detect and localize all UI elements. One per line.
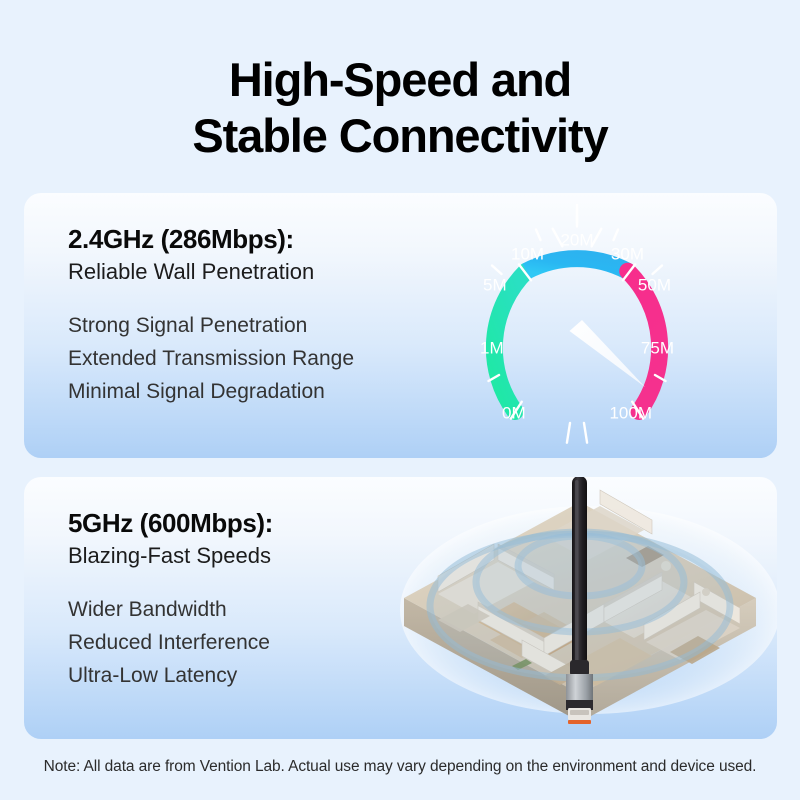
card-2-4ghz-text-block: 2.4GHz (286Mbps): Reliable Wall Penetrat… xyxy=(68,223,418,408)
card-5ghz-heading: 5GHz (600Mbps): xyxy=(68,507,418,539)
gauge-needle xyxy=(570,320,646,387)
card-2-4ghz-feature-list: Strong Signal Penetration Extended Trans… xyxy=(68,309,418,408)
footer-note: Note: All data are from Vention Lab. Act… xyxy=(0,758,800,776)
list-item: Strong Signal Penetration xyxy=(68,309,418,342)
card-5ghz-feature-list: Wider Bandwidth Reduced Interference Ult… xyxy=(68,593,418,692)
list-item: Extended Transmission Range xyxy=(68,342,418,375)
speed-gauge-svg: 0M 1M 5M 10M 20M 30M 50M 75M 100M xyxy=(432,201,732,451)
list-item: Ultra-Low Latency xyxy=(68,659,418,692)
gauge-label-30m: 30M xyxy=(611,244,644,263)
page-title: High-Speed and Stable Connectivity xyxy=(0,52,800,164)
antenna-rod xyxy=(572,477,587,666)
tick-50m xyxy=(653,266,663,275)
antenna-hinge xyxy=(570,660,589,676)
list-item: Minimal Signal Degradation xyxy=(68,375,418,408)
card-5ghz: 5GHz (600Mbps): Blazing-Fast Speeds Wide… xyxy=(24,477,777,739)
infographic-page: High-Speed and Stable Connectivity 2.4GH… xyxy=(0,0,800,800)
speed-gauge: 0M 1M 5M 10M 20M 30M 50M 75M 100M xyxy=(432,201,732,451)
gauge-label-100m: 100M xyxy=(609,403,652,422)
gauge-label-0m: 0M xyxy=(502,403,526,422)
gauge-label-75m: 75M xyxy=(641,338,674,357)
list-item: Reduced Interference xyxy=(68,626,418,659)
gauge-label-20m: 20M xyxy=(560,230,593,249)
page-title-line-2: Stable Connectivity xyxy=(0,108,800,164)
gauge-label-10m: 10M xyxy=(511,244,544,263)
tick-30m xyxy=(614,230,619,241)
page-title-line-1: High-Speed and xyxy=(0,52,800,108)
gauge-label-5m: 5M xyxy=(483,275,507,294)
gauge-label-50m: 50M xyxy=(638,275,671,294)
house-illustration-svg xyxy=(394,477,777,738)
card-5ghz-subtitle: Blazing-Fast Speeds xyxy=(68,541,418,571)
card-2-4ghz-heading: 2.4GHz (286Mbps): xyxy=(68,223,418,255)
card-2-4ghz-subtitle: Reliable Wall Penetration xyxy=(68,257,418,287)
list-item: Wider Bandwidth xyxy=(68,593,418,626)
house-illustration xyxy=(394,477,777,738)
usb-accent xyxy=(568,720,591,724)
tick-10m xyxy=(536,230,541,241)
card-5ghz-text-block: 5GHz (600Mbps): Blazing-Fast Speeds Wide… xyxy=(68,507,418,692)
gauge-label-1m: 1M xyxy=(480,338,504,357)
tick-5m xyxy=(492,266,502,275)
card-2-4ghz: 2.4GHz (286Mbps): Reliable Wall Penetrat… xyxy=(24,193,777,458)
adapter-body xyxy=(566,674,593,702)
